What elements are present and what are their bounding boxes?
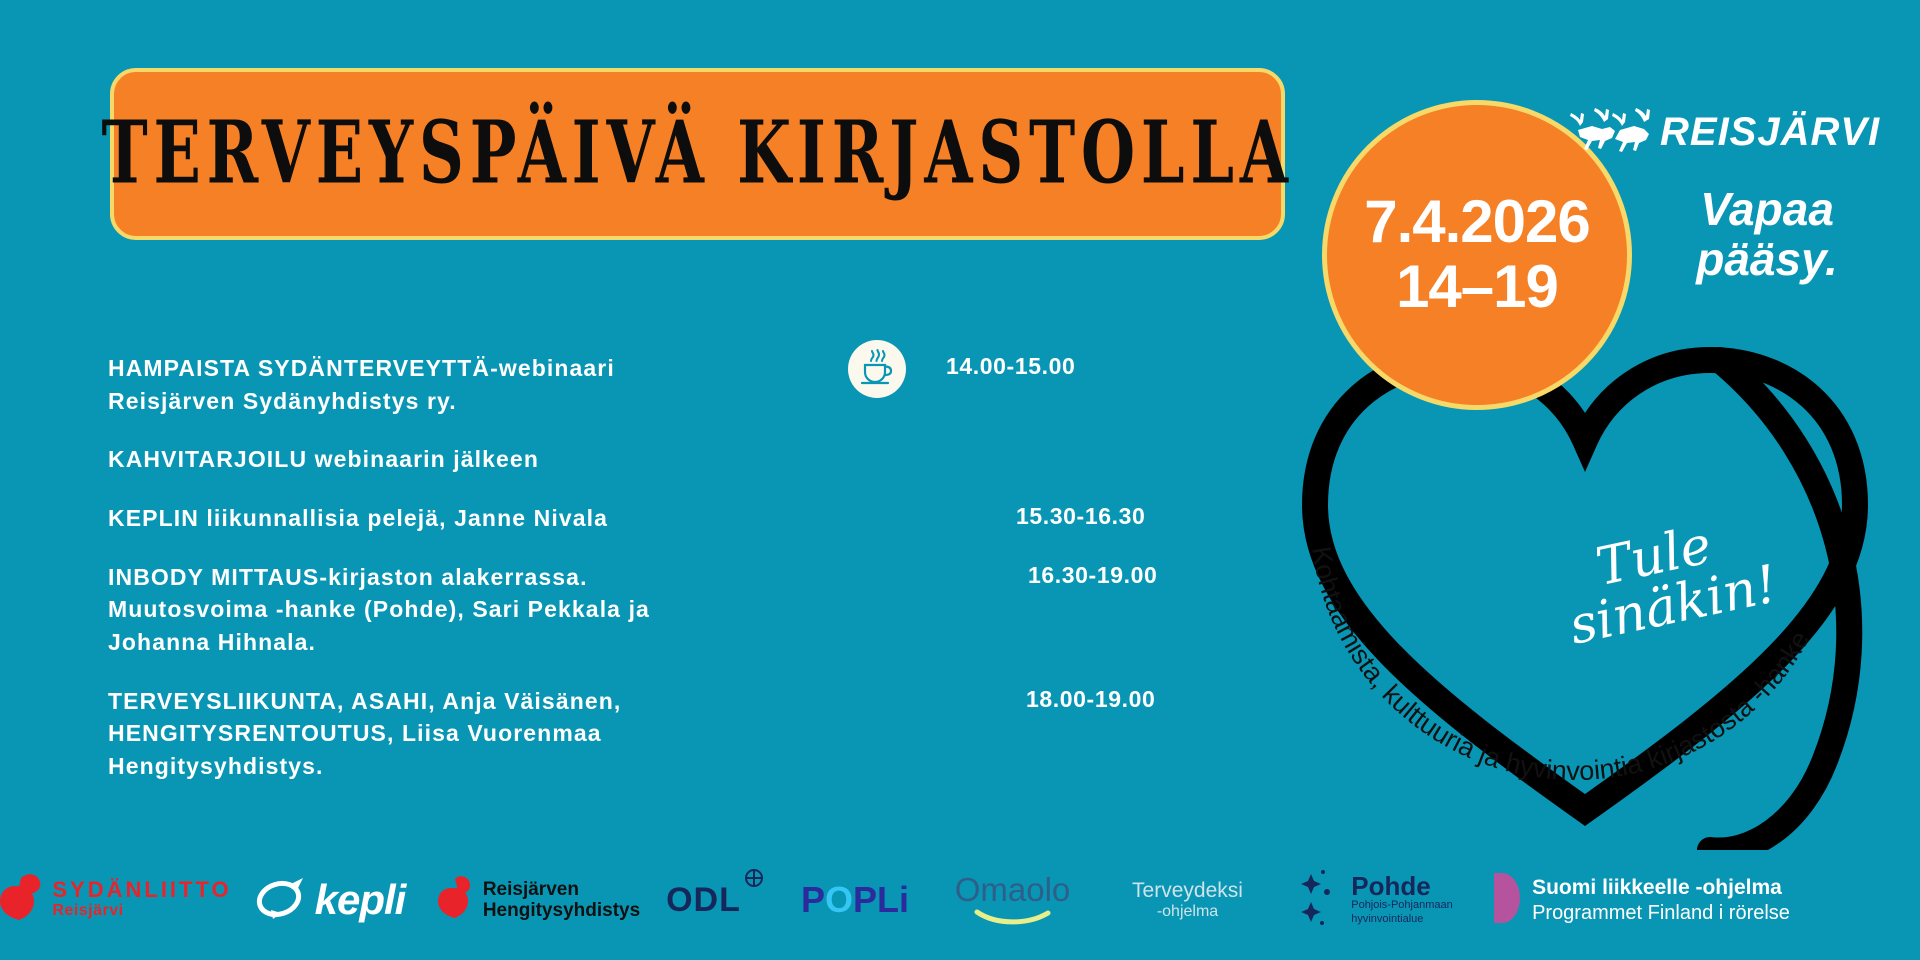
programme-line: KEPLIN liikunnallisia pelejä, Janne Niva… — [108, 502, 948, 535]
programme-line: HENGITYSRENTOUTUS, Liisa Vuorenmaa — [108, 717, 948, 750]
sydanliitto-wordmark: SYDÄNLIITTO Reisjärvi — [52, 879, 231, 922]
omaolo-wordmark: Omaolo — [955, 871, 1071, 909]
pohde-sub-1: Pohjois-Pohjanmaan — [1351, 899, 1453, 913]
free-entry-line-2: pääsy. — [1696, 233, 1838, 285]
sydanliitto-main: SYDÄNLIITTO — [52, 879, 231, 901]
title-banner: TERVEYSPÄIVÄ KIRJASTOLLA — [110, 68, 1285, 240]
programme-line: TERVEYSLIIKUNTA, ASAHI, Anja Väisänen, — [108, 685, 948, 718]
kepli-swirl-icon — [255, 874, 309, 927]
hours-value: 14–19 — [1396, 255, 1558, 320]
pohde-stars-icon — [1297, 868, 1343, 933]
reindeer-icon — [1560, 100, 1652, 165]
programme-description: HAMPAISTA SYDÄNTERVEYTTÄ-webinaari Reisj… — [108, 352, 856, 417]
programme-description: KEPLIN liikunnallisia pelejä, Janne Niva… — [108, 502, 948, 535]
programme-line: Hengitysyhdistys. — [108, 750, 948, 783]
programme-line: INBODY MITTAUS-kirjaston alakerrassa. — [108, 561, 948, 594]
script-invite-text: Tule sinäkin! — [1537, 507, 1782, 656]
programme-line: KAHVITARJOILU webinaarin jälkeen — [108, 443, 948, 476]
logo-pohde: Pohde Pohjois-Pohjanmaan hyvinvointialue — [1275, 840, 1475, 960]
programme-item: INBODY MITTAUS-kirjaston alakerrassa. Mu… — [108, 561, 1288, 659]
logo-terveydeksi: Terveydeksi -ohjelma — [1100, 840, 1275, 960]
suomi-liikkeelle-mark-icon — [1490, 869, 1522, 932]
sydanliitto-mark-icon — [0, 872, 44, 929]
odl-wordmark: ODL — [666, 881, 741, 920]
poster-canvas: TERVEYSPÄIVÄ KIRJASTOLLA Kohtaamista, ku… — [0, 0, 1920, 960]
logo-odl: ODL — [645, 840, 785, 960]
programme-time: 15.30-16.30 — [948, 502, 1145, 530]
programme-line: Johanna Hihnala. — [108, 626, 948, 659]
pohde-main: Pohde — [1351, 873, 1453, 899]
programme-item: HAMPAISTA SYDÄNTERVEYTTÄ-webinaari Reisj… — [108, 352, 1288, 417]
sydanliitto-sub: Reisjärvi — [52, 901, 231, 922]
pohde-sub-2: hyvinvointialue — [1351, 913, 1453, 927]
popli-text: POPLi — [801, 879, 909, 920]
brand-name: REISJÄRVI — [1660, 110, 1880, 155]
hengitys-line-2: Hengitysyhdistys — [483, 900, 640, 921]
odl-cross-icon — [744, 868, 764, 893]
programme-line: Muutosvoima -hanke (Pohde), Sari Pekkala… — [108, 593, 948, 626]
programme-line: HAMPAISTA SYDÄNTERVEYTTÄ-webinaari — [108, 352, 856, 385]
programme-list: HAMPAISTA SYDÄNTERVEYTTÄ-webinaari Reisj… — [108, 352, 1288, 809]
logo-kepli: kepli — [230, 840, 430, 960]
sponsor-logo-bar: SYDÄNLIITTO Reisjärvi kepli — [0, 840, 1920, 960]
programme-item: KEPLIN liikunnallisia pelejä, Janne Niva… — [108, 502, 1288, 535]
programme-description: KAHVITARJOILU webinaarin jälkeen — [108, 443, 948, 476]
programme-item: KAHVITARJOILU webinaarin jälkeen — [108, 443, 1288, 476]
omaolo-smile-icon — [974, 909, 1052, 930]
logo-sydanliitto: SYDÄNLIITTO Reisjärvi — [0, 840, 230, 960]
popli-wordmark: POPLi — [801, 879, 909, 921]
programme-time: 18.00-19.00 — [948, 685, 1155, 713]
logo-reisjarven-hengitysyhdistys: Reisjärven Hengitysyhdistys — [430, 840, 645, 960]
free-entry-note: Vapaa pääsy. — [1652, 185, 1882, 284]
logo-popli: POPLi — [785, 840, 925, 960]
kepli-wordmark: kepli — [315, 876, 406, 924]
suomi-sub: Programmet Finland i rörelse — [1532, 901, 1790, 925]
free-entry-line-1: Vapaa — [1700, 183, 1834, 235]
programme-item: TERVEYSLIIKUNTA, ASAHI, Anja Väisänen, H… — [108, 685, 1288, 783]
coffee-cup-icon — [848, 340, 906, 398]
page-title: TERVEYSPÄIVÄ KIRJASTOLLA — [101, 111, 1293, 197]
programme-time: 16.30-19.00 — [948, 561, 1157, 589]
terveydeksi-main: Terveydeksi — [1132, 879, 1243, 902]
terveydeksi-sub: -ohjelma — [1157, 902, 1218, 921]
logo-omaolo: Omaolo — [925, 840, 1100, 960]
suomi-main: Suomi liikkeelle -ohjelma — [1532, 875, 1790, 900]
date-value: 7.4.2026 — [1364, 190, 1590, 255]
brand-logo: REISJÄRVI — [1560, 100, 1880, 165]
hengitys-line-1: Reisjärven — [483, 879, 640, 900]
hengitys-wordmark: Reisjärven Hengitysyhdistys — [483, 879, 640, 922]
logo-suomi-liikkeelle: Suomi liikkeelle -ohjelma Programmet Fin… — [1475, 840, 1805, 960]
programme-description: INBODY MITTAUS-kirjaston alakerrassa. Mu… — [108, 561, 948, 659]
programme-line: Reisjärven Sydänyhdistys ry. — [108, 385, 856, 418]
hengitys-mark-icon — [435, 875, 475, 926]
programme-description: TERVEYSLIIKUNTA, ASAHI, Anja Väisänen, H… — [108, 685, 948, 783]
